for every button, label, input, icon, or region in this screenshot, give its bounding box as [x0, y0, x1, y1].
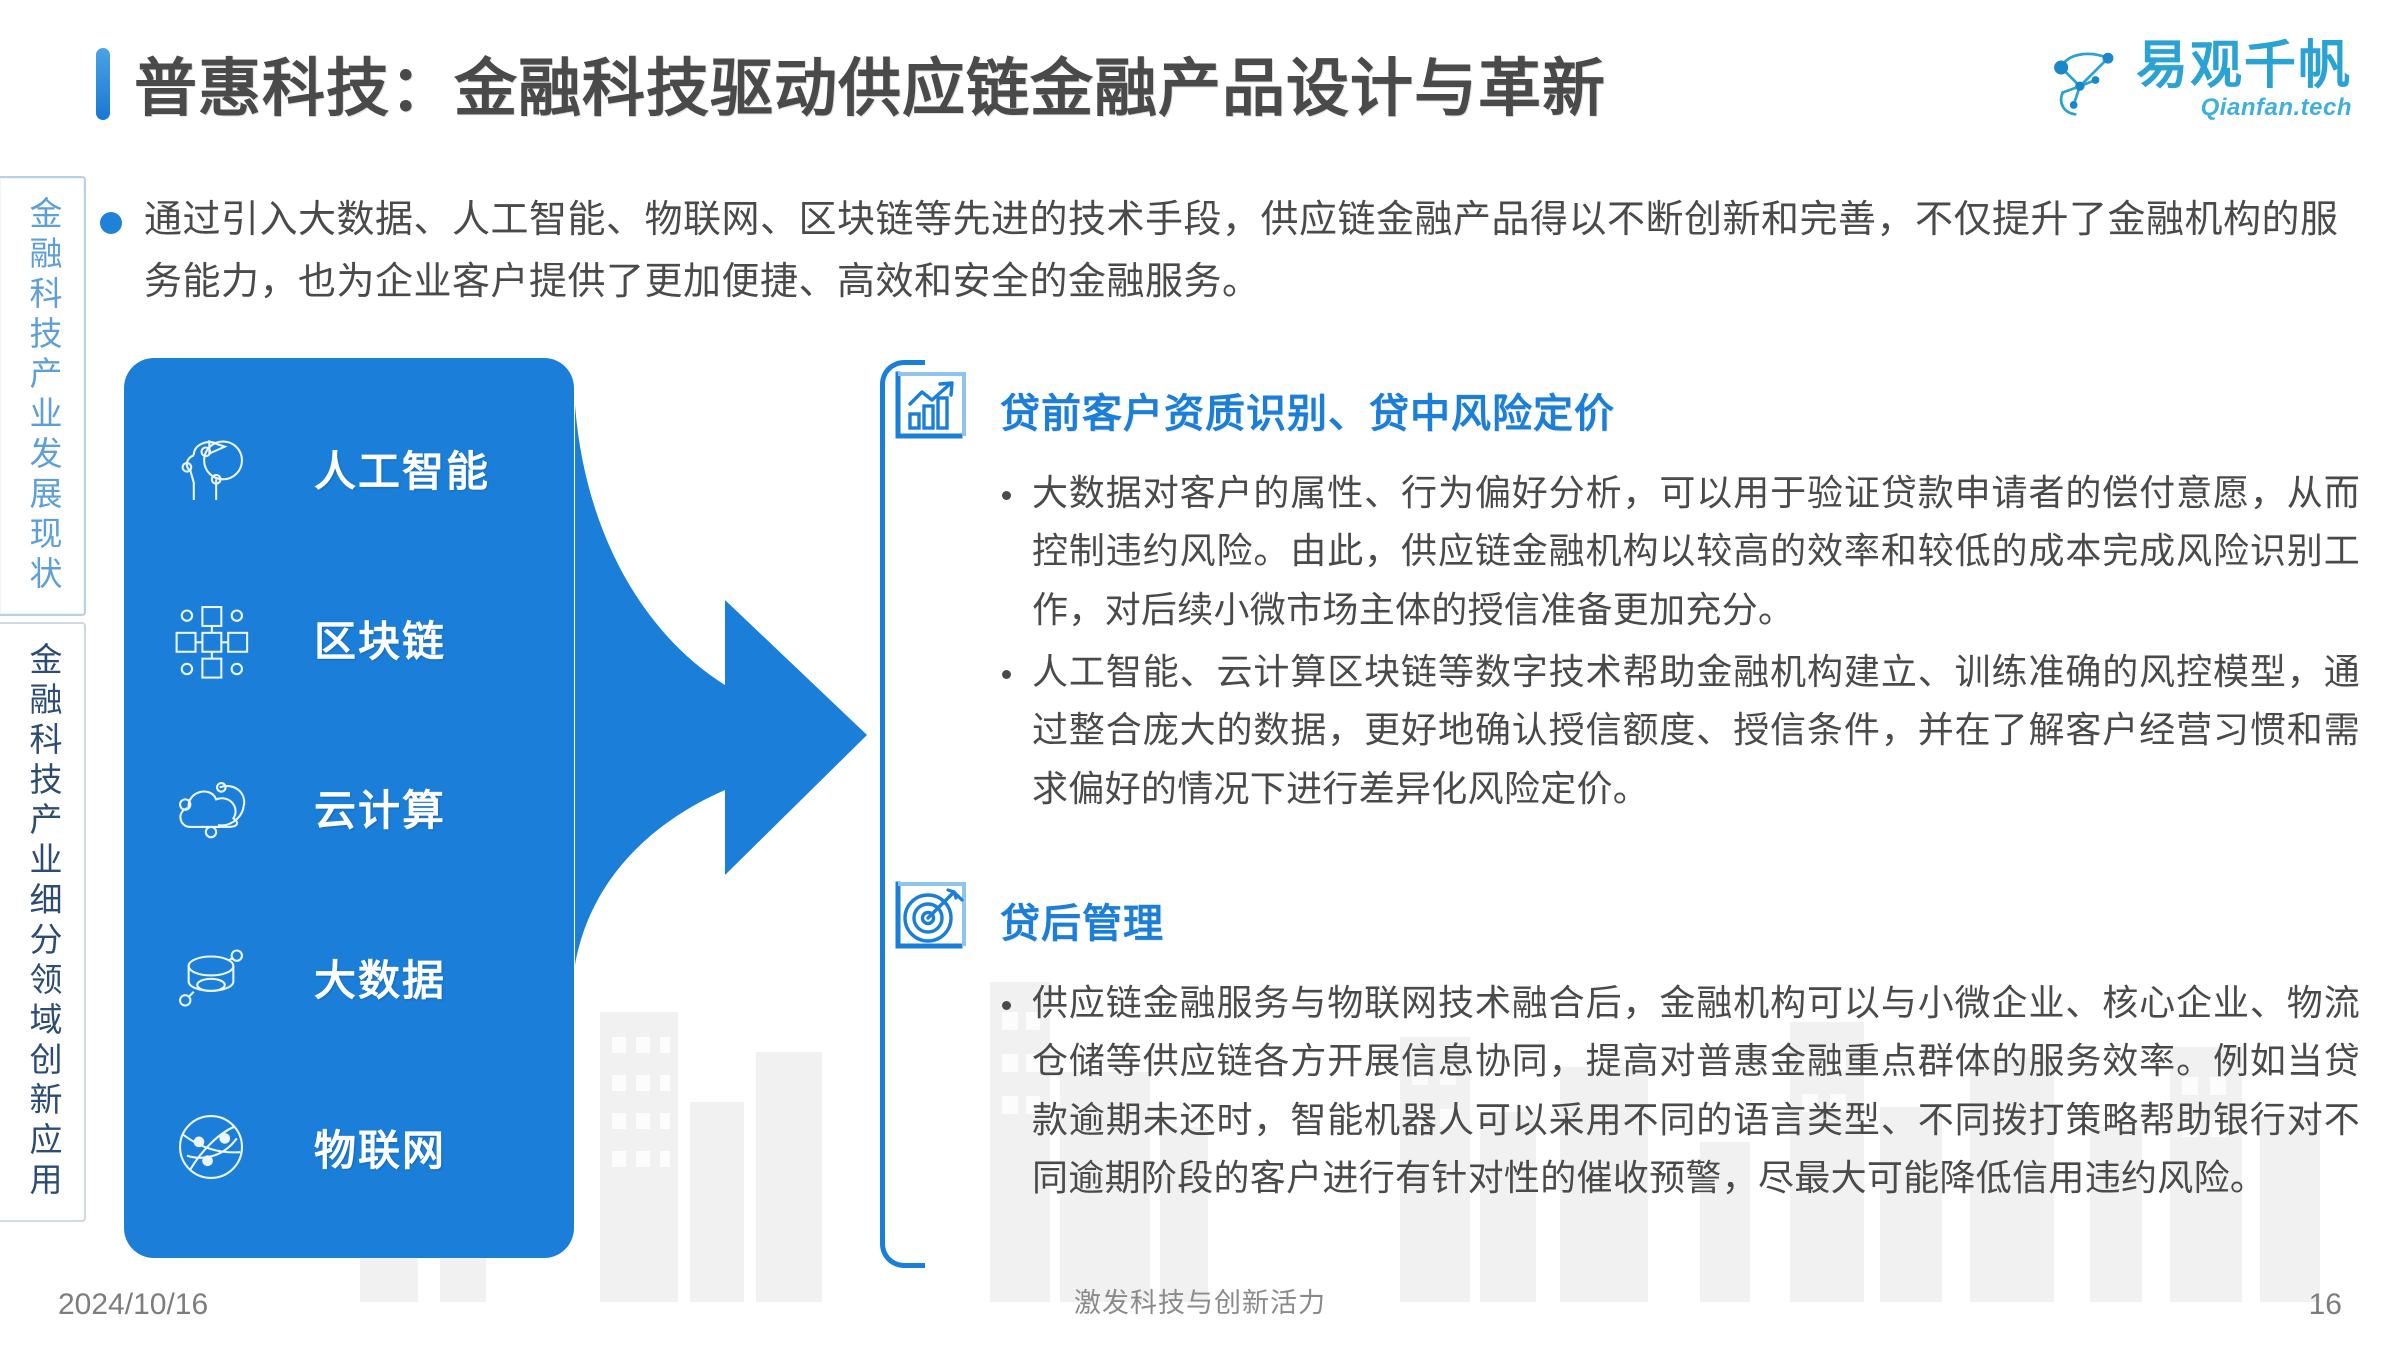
brand-logo: 易观千帆 Qianfan.tech: [2044, 40, 2352, 120]
qianfan-network-icon: [2044, 41, 2122, 119]
section-header: 贷前客户资质识别、贷中风险定价: [890, 368, 2360, 452]
technology-panel: 人工智能 区块链: [124, 358, 574, 1258]
section-title: 贷后管理: [1000, 891, 1164, 949]
list-item: 大数据对客户的属性、行为偏好分析，可以用于验证贷款申请者的偿付意愿，从而控制违约…: [998, 464, 2360, 639]
tech-item-label: 云计算: [314, 777, 446, 838]
blockchain-nodes-icon: [168, 595, 254, 681]
tech-item-blockchain[interactable]: 区块链: [124, 563, 574, 713]
tech-item-bigdata[interactable]: 大数据: [124, 903, 574, 1053]
tech-item-cloud[interactable]: 云计算: [124, 733, 574, 883]
brand-name-cn: 易观千帆: [2136, 40, 2352, 92]
section-pre-loan: 贷前客户资质识别、贷中风险定价 大数据对客户的属性、行为偏好分析，可以用于验证贷…: [890, 368, 2360, 818]
ai-brain-icon: [168, 426, 254, 512]
sidebar-item-label: 金融科技产业发展现状: [26, 196, 60, 596]
flow-arrow-icon: [575, 405, 875, 965]
sidebar-item-segment-innovation[interactable]: 金融科技产业细分领域创新应用: [0, 622, 86, 1222]
tech-item-label: 物联网: [314, 1117, 446, 1178]
slide-root: 金融科技产业发展现状 金融科技产业细分领域创新应用 普惠科技：金融科技驱动供应链…: [0, 0, 2400, 1350]
bar-chart-icon: [890, 368, 974, 452]
section-header: 贷后管理: [890, 878, 2360, 962]
target-dart-icon: [890, 878, 974, 962]
bullet-list: 大数据对客户的属性、行为偏好分析，可以用于验证贷款申请者的偿付意愿，从而控制违约…: [890, 464, 2360, 818]
bullet-dot-icon: [100, 212, 122, 234]
footer-slogan: 激发科技与创新活力: [0, 1281, 2400, 1320]
big-data-icon: [168, 935, 254, 1021]
list-item: 供应链金融服务与物联网技术融合后，金融机构可以与小微企业、核心企业、物流仓储等供…: [998, 974, 2360, 1207]
bullet-list: 供应链金融服务与物联网技术融合后，金融机构可以与小微企业、核心企业、物流仓储等供…: [890, 974, 2360, 1207]
tech-item-label: 区块链: [314, 608, 446, 669]
lead-text: 通过引入大数据、人工智能、物联网、区块链等先进的技术手段，供应链金融产品得以不断…: [144, 190, 2370, 313]
tech-item-iot[interactable]: 物联网: [124, 1072, 574, 1222]
sidebar-item-label: 金融科技产业细分领域创新应用: [26, 642, 60, 1202]
sidebar-tabs: 金融科技产业发展现状 金融科技产业细分领域创新应用: [0, 176, 96, 1228]
content-area: 贷前客户资质识别、贷中风险定价 大数据对客户的属性、行为偏好分析，可以用于验证贷…: [890, 368, 2360, 1267]
sidebar-item-industry-status[interactable]: 金融科技产业发展现状: [0, 176, 86, 616]
page-title: 普惠科技：金融科技驱动供应链金融产品设计与革新: [134, 38, 1606, 129]
section-post-loan: 贷后管理 供应链金融服务与物联网技术融合后，金融机构可以与小微企业、核心企业、物…: [890, 878, 2360, 1207]
lead-paragraph: 通过引入大数据、人工智能、物联网、区块链等先进的技术手段，供应链金融产品得以不断…: [100, 190, 2370, 313]
tech-item-ai[interactable]: 人工智能: [124, 394, 574, 544]
tech-item-label: 大数据: [314, 947, 446, 1008]
tech-item-label: 人工智能: [314, 438, 490, 499]
cloud-computing-icon: [168, 765, 254, 851]
title-accent-bar: [96, 48, 110, 120]
footer-page-number: 16: [2309, 1288, 2342, 1322]
section-title: 贷前客户资质识别、贷中风险定价: [1000, 381, 1615, 439]
list-item: 人工智能、云计算区块链等数字技术帮助金融机构建立、训练准确的风控模型，通过整合庞…: [998, 643, 2360, 818]
iot-globe-icon: [168, 1104, 254, 1190]
brand-name-en: Qianfan.tech: [2136, 96, 2352, 120]
